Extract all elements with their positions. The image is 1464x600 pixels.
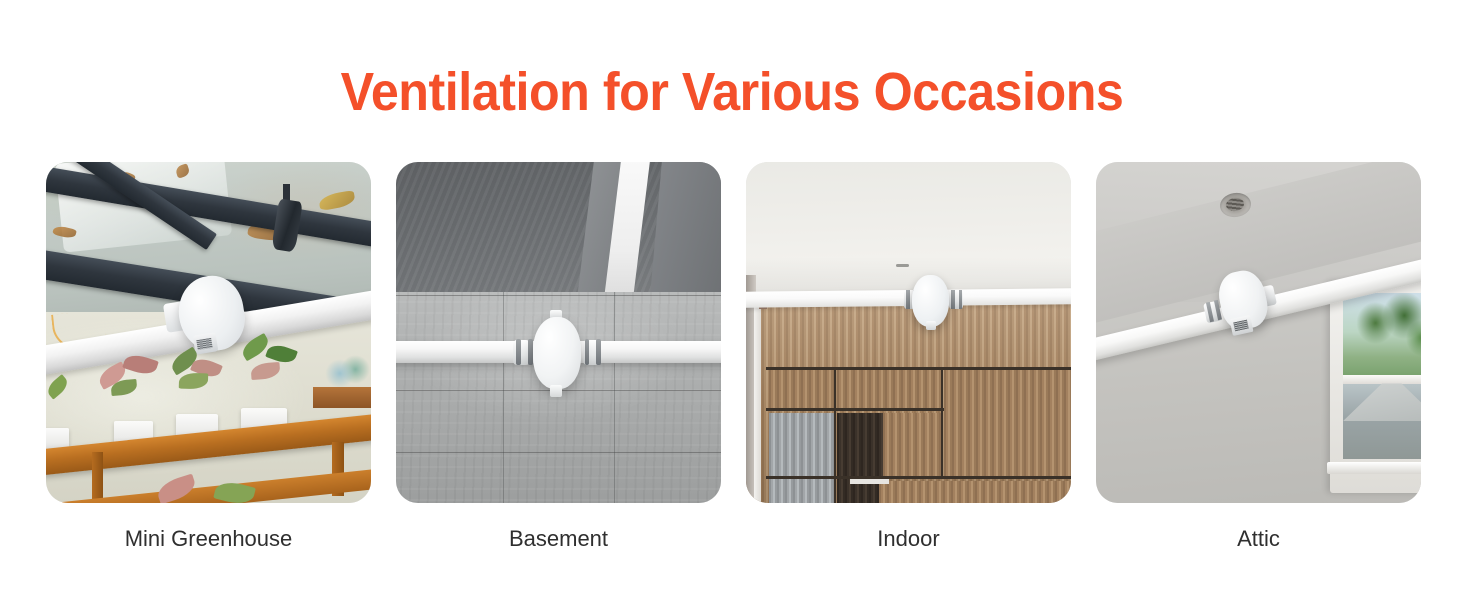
gallery-card-attic[interactable]: Attic [1096,162,1421,553]
wall-seam-icon [396,295,721,296]
gallery-caption-basement: Basement [509,525,608,553]
window-sill-icon [1327,462,1421,474]
promo-banner: Ventilation for Various Occasions [0,0,1464,600]
wall-seam-icon [614,292,615,503]
cabinet-seam-icon [766,476,1072,479]
duct-clamp-icon [906,290,910,310]
bench-leg-icon [92,452,104,503]
wall-seam-icon [503,292,504,503]
cabinet-seam-icon [766,408,945,412]
gallery-caption-indoor: Indoor [877,525,939,553]
gallery-card-indoor[interactable]: Indoor [746,162,1071,553]
cabinet-panel-icon [769,370,834,408]
basement-photo[interactable] [396,162,721,503]
cabinet-panel-icon [944,370,1071,476]
cabinet-panel-dark-icon [837,413,883,503]
cabinet-seam-icon [834,411,836,503]
duct-clamp-icon [596,339,601,365]
attic-photo[interactable] [1096,162,1421,503]
cabinet-panel-icon [883,413,942,478]
duct-clamp-icon [528,339,533,365]
cabinet-handle-icon [850,479,889,484]
cabinet-panel-icon [837,370,941,408]
inline-duct-fan-icon [533,317,582,389]
ceiling-vent-icon [896,264,909,267]
concrete-column-icon [649,162,721,305]
duct-clamp-icon [959,290,963,310]
duct-clamp-icon [951,290,955,310]
gallery-card-basement[interactable]: Basement [396,162,721,553]
wall-trim-icon [754,305,761,503]
cabinet-panel-icon [879,481,1071,503]
refrigerator-icon [769,413,834,503]
cabinet-seam-icon [941,367,943,476]
page-title: Ventilation for Various Occasions [51,62,1413,122]
occasion-gallery: Mini Greenhouse [46,162,1420,553]
gallery-caption-mini-greenhouse: Mini Greenhouse [125,525,293,553]
duct-clamp-icon [516,339,521,365]
fan-mount-tab-icon [926,321,936,331]
tree-icon [1356,293,1421,368]
wall-seam-icon [396,452,721,453]
cabinet-seam-icon [834,370,836,408]
indoor-photo[interactable] [746,162,1071,503]
gallery-caption-attic: Attic [1237,525,1280,553]
duct-clamp-icon [585,339,590,365]
fan-mount-tab-icon [550,385,562,397]
planter-box-icon [313,387,372,407]
inline-duct-fan-icon [912,275,949,328]
greenhouse-photo[interactable] [46,162,371,503]
gallery-card-mini-greenhouse[interactable]: Mini Greenhouse [46,162,371,553]
